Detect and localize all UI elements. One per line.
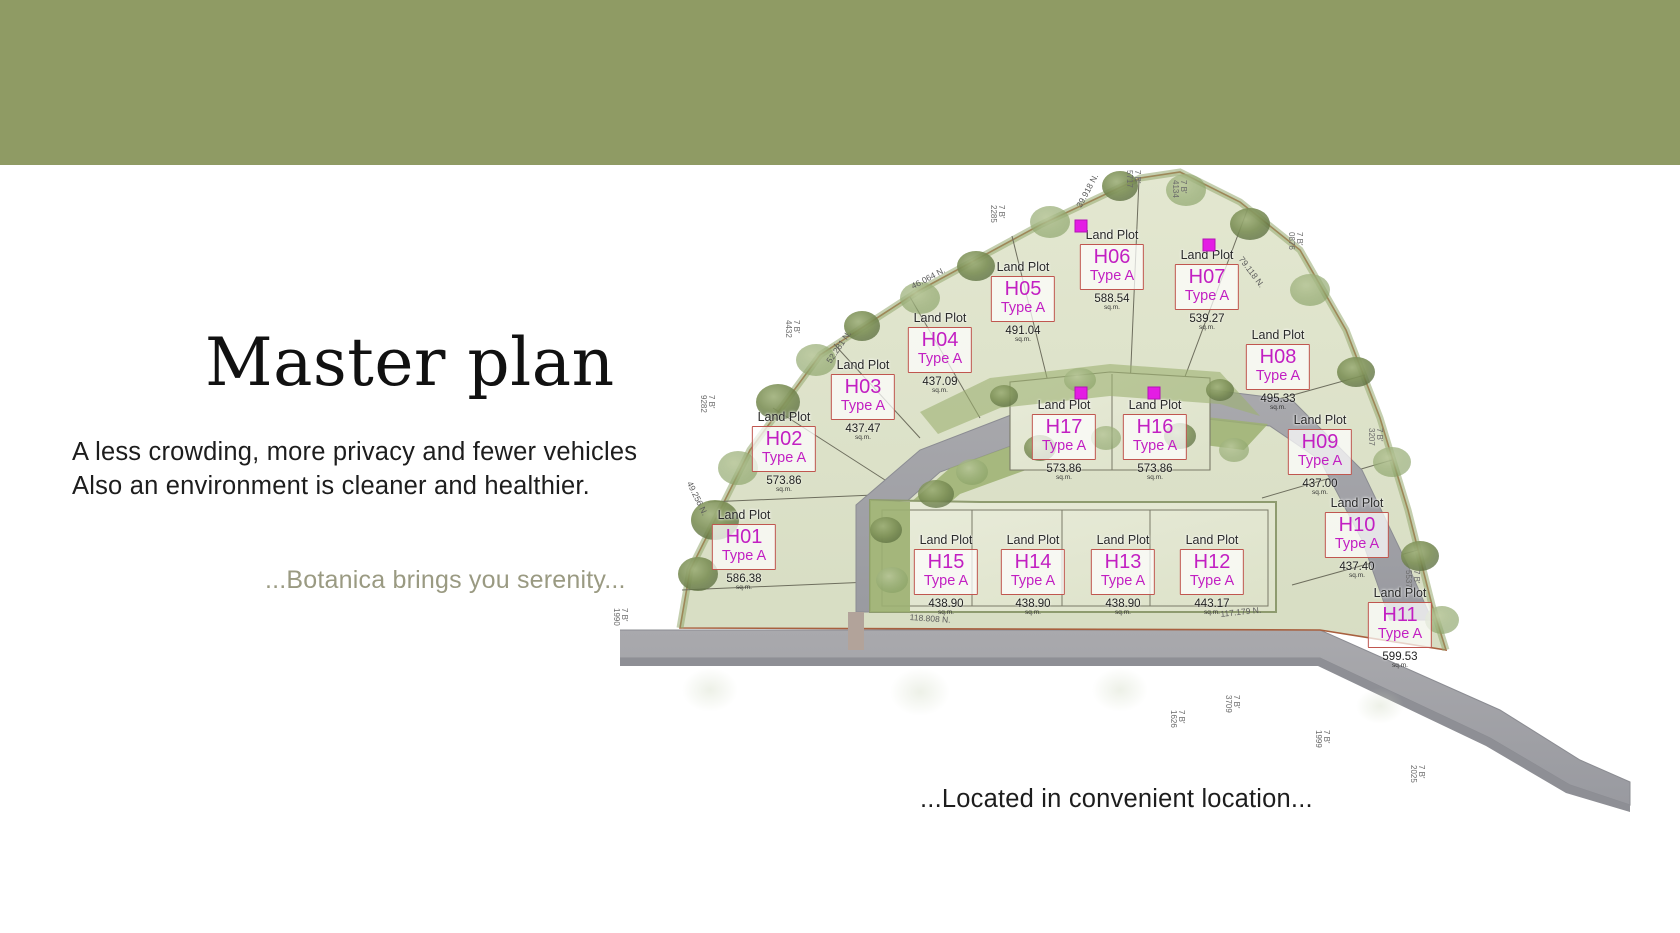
plot-code-box: H07 Type A bbox=[1175, 264, 1239, 309]
plot-label-caption: Land Plot bbox=[1180, 533, 1244, 547]
plot-type: Type A bbox=[1185, 288, 1229, 305]
plot-H16[interactable]: Land Plot H16 Type A 573.86 sq.m. bbox=[1123, 398, 1187, 482]
plot-code-box: H10 Type A bbox=[1325, 512, 1389, 557]
plot-H14[interactable]: Land Plot H14 Type A 438.90 sq.m. bbox=[1001, 533, 1065, 617]
plot-type: Type A bbox=[1256, 368, 1300, 385]
plot-type: Type A bbox=[722, 548, 766, 565]
plot-code: H09 bbox=[1298, 432, 1342, 453]
plot-label-caption: Land Plot bbox=[752, 410, 816, 424]
bearing-label: 7 B' 3709 bbox=[1223, 695, 1240, 713]
bearing-label: 7 B' 5717 bbox=[1124, 170, 1141, 188]
plot-code-box: H17 Type A bbox=[1032, 414, 1096, 459]
tagline: ...Botanica brings you serenity... bbox=[265, 566, 660, 595]
plot-label-caption: Land Plot bbox=[914, 533, 978, 547]
plot-type: Type A bbox=[1090, 268, 1134, 285]
plot-label-caption: Land Plot bbox=[1288, 413, 1352, 427]
plot-code: H15 bbox=[924, 552, 968, 573]
utility-marker-icon bbox=[1075, 220, 1088, 233]
plot-H17[interactable]: Land Plot H17 Type A 573.86 sq.m. bbox=[1032, 398, 1096, 482]
page-title: Master plan bbox=[205, 330, 660, 396]
plot-code-box: H14 Type A bbox=[1001, 549, 1065, 594]
plot-H13[interactable]: Land Plot H13 Type A 438.90 sq.m. bbox=[1091, 533, 1155, 617]
plot-area-unit: sq.m. bbox=[752, 487, 816, 494]
plot-label-caption: Land Plot bbox=[991, 260, 1055, 274]
plot-code: H03 bbox=[841, 377, 885, 398]
plot-H09[interactable]: Land Plot H09 Type A 437.00 sq.m. bbox=[1288, 413, 1352, 497]
plot-code: H14 bbox=[1011, 552, 1055, 573]
plot-code: H02 bbox=[762, 429, 806, 450]
plot-area-unit: sq.m. bbox=[1325, 573, 1389, 580]
bearing-label: 7 B' 9282 bbox=[698, 395, 715, 413]
bearing-label: 7 B' 4432 bbox=[783, 320, 800, 338]
bearing-label: 7 B' 2025 bbox=[1408, 765, 1425, 783]
subtitle-line-2: Also an environment is cleaner and healt… bbox=[72, 470, 660, 504]
plot-code-box: H05 Type A bbox=[991, 276, 1055, 321]
plot-code: H16 bbox=[1133, 417, 1177, 438]
plot-H04[interactable]: Land Plot H04 Type A 437.09 sq.m. bbox=[908, 311, 972, 395]
plot-H02[interactable]: Land Plot H02 Type A 573.86 sq.m. bbox=[752, 410, 816, 494]
plot-code-box: H03 Type A bbox=[831, 374, 895, 419]
plot-type: Type A bbox=[841, 398, 885, 415]
plot-area-unit: sq.m. bbox=[831, 435, 895, 442]
plot-label-caption: Land Plot bbox=[1368, 586, 1432, 600]
plot-type: Type A bbox=[918, 351, 962, 368]
plot-label-caption: Land Plot bbox=[831, 358, 895, 372]
plot-area-unit: sq.m. bbox=[1123, 475, 1187, 482]
plot-code-box: H09 Type A bbox=[1288, 429, 1352, 474]
plot-area-unit: sq.m. bbox=[1032, 475, 1096, 482]
plot-H01[interactable]: Land Plot H01 Type A 586.38 sq.m. bbox=[712, 508, 776, 592]
plot-area-unit: sq.m. bbox=[1246, 405, 1310, 412]
plot-code-box: H02 Type A bbox=[752, 426, 816, 471]
plot-area-unit: sq.m. bbox=[1175, 325, 1239, 332]
plot-code: H05 bbox=[1001, 279, 1045, 300]
plot-area-unit: sq.m. bbox=[1080, 305, 1144, 312]
bearing-label: 7 B' 3207 bbox=[1366, 428, 1383, 446]
plot-H10[interactable]: Land Plot H10 Type A 437.40 sq.m. bbox=[1325, 496, 1389, 580]
plot-code: H01 bbox=[722, 527, 766, 548]
plot-code-box: H04 Type A bbox=[908, 327, 972, 372]
master-plan-page: Master plan A less crowding, more privac… bbox=[0, 0, 1680, 933]
intro-text-block: Master plan A less crowding, more privac… bbox=[0, 330, 660, 595]
bearing-label: 7 B' 0876 bbox=[1286, 232, 1303, 250]
subtitle-line-1: A less crowding, more privacy and fewer … bbox=[72, 436, 660, 470]
plot-area-unit: sq.m. bbox=[1368, 663, 1432, 670]
plot-type: Type A bbox=[762, 450, 806, 467]
plot-label-caption: Land Plot bbox=[908, 311, 972, 325]
plot-code-box: H08 Type A bbox=[1246, 344, 1310, 389]
bearing-label: 7 B' 2285 bbox=[988, 205, 1005, 223]
plot-type: Type A bbox=[1042, 438, 1086, 455]
top-banner bbox=[0, 0, 1680, 165]
plot-code-box: H15 Type A bbox=[914, 549, 978, 594]
plot-type: Type A bbox=[1298, 453, 1342, 470]
plot-area-unit: sq.m. bbox=[1091, 610, 1155, 617]
site-plan-svg bbox=[620, 150, 1680, 850]
plot-label-caption: Land Plot bbox=[1123, 398, 1187, 412]
plot-code-box: H11 Type A bbox=[1368, 602, 1432, 647]
plot-code: H08 bbox=[1256, 347, 1300, 368]
plot-code: H10 bbox=[1335, 515, 1379, 536]
plot-H06[interactable]: Land Plot H06 Type A 588.54 sq.m. bbox=[1080, 228, 1144, 312]
plot-label-caption: Land Plot bbox=[1091, 533, 1155, 547]
plot-label-caption: Land Plot bbox=[1246, 328, 1310, 342]
plot-H07[interactable]: Land Plot H07 Type A 539.27 sq.m. bbox=[1175, 248, 1239, 332]
plot-code: H12 bbox=[1190, 552, 1234, 573]
plot-H15[interactable]: Land Plot H15 Type A 438.90 sq.m. bbox=[914, 533, 978, 617]
plot-type: Type A bbox=[1101, 573, 1145, 590]
plot-code: H06 bbox=[1090, 247, 1134, 268]
plot-type: Type A bbox=[1378, 626, 1422, 643]
subtitle: A less crowding, more privacy and fewer … bbox=[72, 436, 660, 504]
plot-code: H13 bbox=[1101, 552, 1145, 573]
plot-area-unit: sq.m. bbox=[712, 585, 776, 592]
plot-H05[interactable]: Land Plot H05 Type A 491.04 sq.m. bbox=[991, 260, 1055, 344]
plot-area-unit: sq.m. bbox=[991, 337, 1055, 344]
plot-code: H07 bbox=[1185, 267, 1229, 288]
plot-type: Type A bbox=[1190, 573, 1234, 590]
plot-label-caption: Land Plot bbox=[1080, 228, 1144, 242]
plot-type: Type A bbox=[1133, 438, 1177, 455]
plot-code: H11 bbox=[1378, 605, 1422, 626]
plot-code-box: H12 Type A bbox=[1180, 549, 1244, 594]
bearing-label: 7 B' 4134 bbox=[1170, 180, 1187, 198]
plot-type: Type A bbox=[1011, 573, 1055, 590]
plot-code: H04 bbox=[918, 330, 962, 351]
plot-type: Type A bbox=[1001, 300, 1045, 317]
plot-code-box: H13 Type A bbox=[1091, 549, 1155, 594]
plot-area-unit: sq.m. bbox=[1001, 610, 1065, 617]
master-plan-drawing[interactable]: Land Plot H01 Type A 586.38 sq.m. Land P… bbox=[620, 150, 1680, 850]
plot-type: Type A bbox=[924, 573, 968, 590]
bearing-label: 7 B' 1626 bbox=[1168, 710, 1185, 728]
plot-label-caption: Land Plot bbox=[1325, 496, 1389, 510]
utility-marker-icon bbox=[1075, 387, 1088, 400]
plot-area-unit: sq.m. bbox=[908, 388, 972, 395]
bearing-label: 7 B' 1990 bbox=[611, 608, 628, 626]
plot-label-caption: Land Plot bbox=[1001, 533, 1065, 547]
plot-H11[interactable]: Land Plot H11 Type A 599.53 sq.m. bbox=[1368, 586, 1432, 670]
utility-marker-icon bbox=[1148, 387, 1161, 400]
plot-H03[interactable]: Land Plot H03 Type A 437.47 sq.m. bbox=[831, 358, 895, 442]
plot-H12[interactable]: Land Plot H12 Type A 443.17 sq.m. bbox=[1180, 533, 1244, 617]
bearing-label: 7 B' 1999 bbox=[1313, 730, 1330, 748]
plot-type: Type A bbox=[1335, 536, 1379, 553]
plot-label-caption: Land Plot bbox=[712, 508, 776, 522]
bearing-label: 7 B' 5537 bbox=[1403, 570, 1420, 588]
utility-marker-icon bbox=[1203, 239, 1216, 252]
plot-code-box: H06 Type A bbox=[1080, 244, 1144, 289]
plot-code: H17 bbox=[1042, 417, 1086, 438]
plot-label-caption: Land Plot bbox=[1032, 398, 1096, 412]
plot-code-box: H01 Type A bbox=[712, 524, 776, 569]
plot-H08[interactable]: Land Plot H08 Type A 495.33 sq.m. bbox=[1246, 328, 1310, 412]
plot-code-box: H16 Type A bbox=[1123, 414, 1187, 459]
